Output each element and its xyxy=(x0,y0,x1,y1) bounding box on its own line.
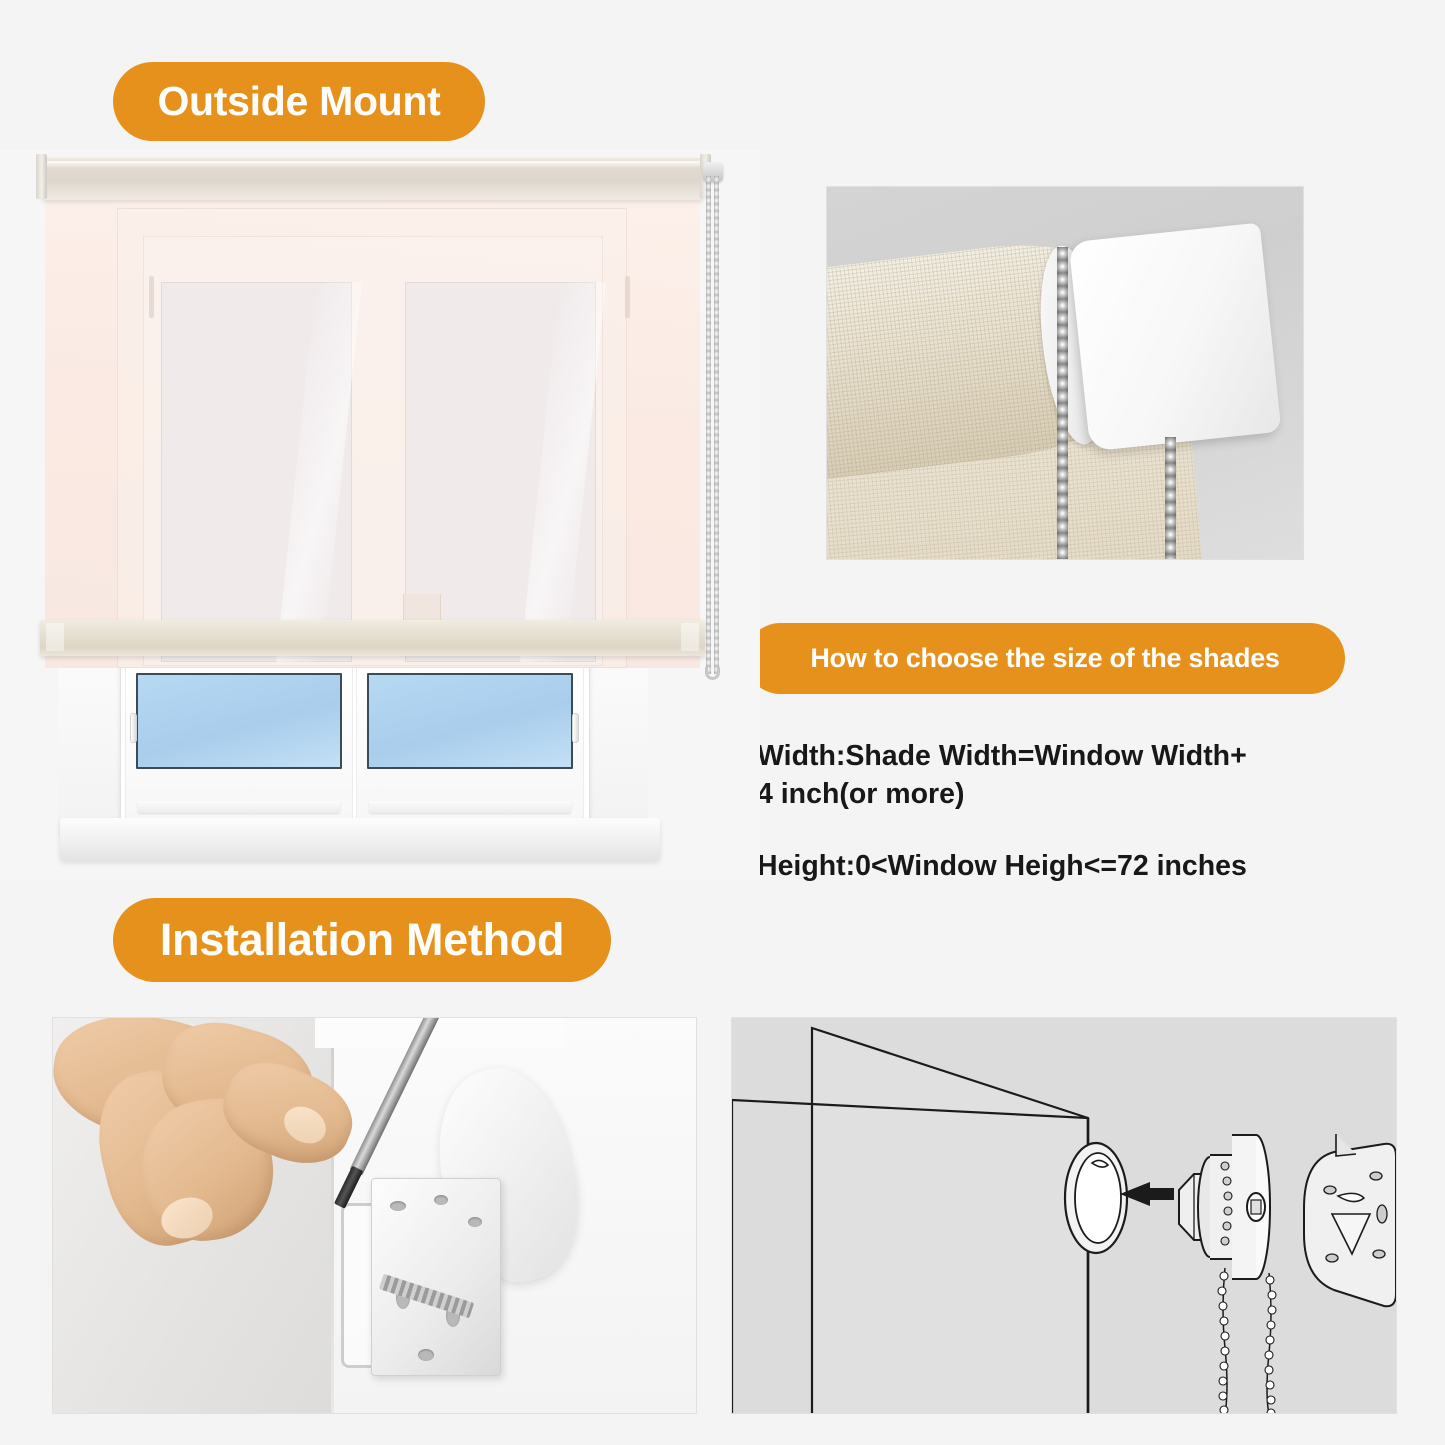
window-scene-illustration xyxy=(0,150,760,880)
roller-tube xyxy=(40,158,705,200)
sizing-width-line-2: 4 inch(or more) xyxy=(757,776,1357,814)
shade-bottom-rail xyxy=(40,620,705,656)
roller-shade-fabric xyxy=(45,198,700,668)
mechanism-bead-chain-back xyxy=(1165,437,1176,560)
badge-how-to-choose-size: How to choose the size of the shades xyxy=(745,623,1345,694)
sizing-text-spacer xyxy=(757,814,1357,848)
diagram-tube-end xyxy=(1065,1143,1127,1253)
window-sash-left xyxy=(125,666,353,820)
bracket-hole-3 xyxy=(468,1217,482,1227)
window-glass-right xyxy=(367,673,573,769)
window-sash-lip-right xyxy=(369,801,571,813)
window-sill xyxy=(60,818,660,860)
chain-strand-back xyxy=(714,176,719,674)
sizing-guide-text: Width:Shade Width=Window Width+ 4 inch(o… xyxy=(757,738,1357,886)
mechanism-bead-chain-front xyxy=(1057,247,1068,559)
mechanism-white-bracket xyxy=(1069,223,1282,452)
window-handle-left xyxy=(130,713,137,743)
shade-seen-through-handle-left xyxy=(149,276,154,318)
panel-exploded-diagram xyxy=(731,1017,1397,1414)
chain-strand-front xyxy=(706,176,711,674)
window-glass-left xyxy=(136,673,342,769)
bracket-hole-2 xyxy=(434,1195,448,1205)
exploded-diagram-svg xyxy=(732,1018,1397,1414)
bracket-hole-1 xyxy=(390,1201,406,1211)
bracket-hole-6 xyxy=(418,1349,434,1361)
panel-bracket-install-photo xyxy=(52,1017,697,1414)
install-hand xyxy=(52,1017,373,1265)
window-sash-lip-left xyxy=(138,801,340,813)
shade-seen-through-glass-left xyxy=(161,282,352,662)
window-sash-right xyxy=(356,666,584,820)
shade-seen-through-handle-right xyxy=(625,276,630,318)
sizing-width-line-1: Width:Shade Width=Window Width+ xyxy=(757,738,1357,776)
roller-endcap-left xyxy=(36,154,47,199)
window-handle-right xyxy=(572,713,579,743)
badge-outside-mount: Outside Mount xyxy=(113,62,485,141)
sizing-height-line: Height:0<Window Heigh<=72 inches xyxy=(757,848,1357,886)
badge-installation-method: Installation Method xyxy=(113,898,611,982)
bead-chain-loop[interactable] xyxy=(702,176,724,674)
window-frame xyxy=(120,662,590,824)
panel-mechanism-closeup xyxy=(826,186,1304,560)
